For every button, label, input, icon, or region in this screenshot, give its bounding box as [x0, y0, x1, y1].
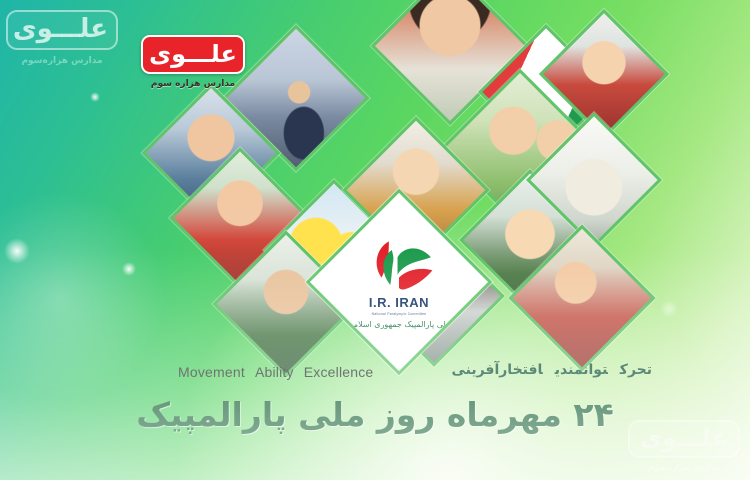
watermark-bottom-right-box: علـــوی: [628, 420, 740, 458]
watermark-top-left: علـــوی مدارس هزاره‌سوم: [6, 10, 118, 66]
bokeh-sparkle-icon: [90, 92, 100, 102]
mosaic-tile: [478, 24, 614, 160]
mosaic-tile: [508, 224, 655, 371]
mosaic-tile: [371, 0, 529, 125]
tagline-fa-word: توانمندی: [555, 362, 608, 378]
watermark-bottom-right-word: علـــوی: [638, 426, 730, 450]
tagline-en-word: Ability: [255, 364, 294, 380]
paralympic-day-poster: I.R. IRAN National Paralympic Committee …: [0, 0, 750, 480]
watermark-bottom-right: علـــوی مدارس هزاره‌سوم: [628, 420, 740, 472]
emblem-name: I.R. IRAN: [369, 296, 429, 309]
tagline-fa-word: تحرک: [620, 362, 652, 378]
bokeh-sparkle-icon: [122, 262, 136, 276]
mosaic-tile: [169, 147, 310, 288]
mosaic-tile: [539, 9, 669, 139]
tagline-en-word: Excellence: [304, 364, 374, 380]
emblem-persian-name: کمیته ملی پارالمپیک جمهوری اسلامی ایران: [328, 320, 471, 329]
iran-paralympic-emblem: I.R. IRAN National Paralympic Committee …: [306, 189, 493, 376]
brand-logo-box: علـــوی: [141, 35, 245, 74]
bokeh-sparkle-icon: [4, 238, 30, 264]
mosaic-tile: [526, 112, 662, 248]
watermark-top-left-word: علـــوی: [16, 16, 108, 42]
bokeh-sparkle-icon: [660, 300, 678, 318]
mosaic-tile: [441, 69, 599, 227]
mosaic-tile: [142, 84, 281, 223]
watermark-bottom-right-subtitle: مدارس هزاره‌سوم: [628, 463, 740, 472]
alavi-brand-logo: علـــوی مدارس هزاره سوم: [141, 35, 245, 89]
brand-logo-word: علـــوی: [149, 42, 237, 66]
watermark-top-left-subtitle: مدارس هزاره‌سوم: [6, 56, 118, 66]
emblem-subtitle: National Paralympic Committee: [372, 312, 427, 316]
brand-logo-subtitle: مدارس هزاره سوم: [141, 79, 245, 89]
watermark-top-left-box: علـــوی: [6, 10, 118, 50]
agitos-symbol-icon: [362, 237, 436, 295]
tagline-fa-word: افتخارآفرینی: [451, 362, 542, 378]
tagline-en-word: Movement: [178, 364, 245, 380]
tagline-persian: تحرکتوانمندیافتخارآفرینی: [451, 362, 652, 378]
tagline-english: MovementAbilityExcellence: [178, 364, 373, 380]
